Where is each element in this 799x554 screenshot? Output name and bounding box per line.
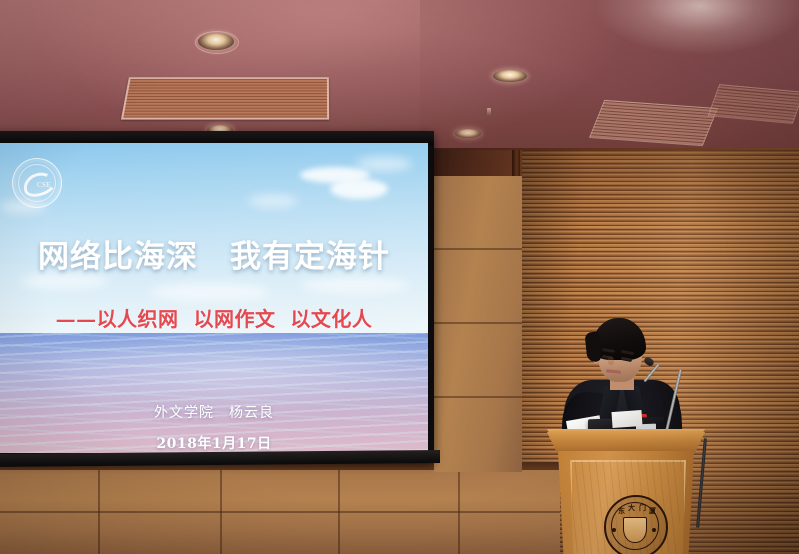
presenter-sideburn — [584, 331, 601, 362]
institution-logo-icon: CSE — [12, 158, 62, 208]
podium-top-surface — [547, 432, 705, 452]
cloud-icon — [300, 277, 410, 293]
crest-shield — [623, 517, 647, 543]
side-acoustic-panel — [434, 176, 522, 472]
cloud-icon — [330, 179, 388, 199]
crest-glyph: 东 — [618, 506, 625, 516]
panel-seam — [0, 511, 560, 513]
cloud-icon — [356, 157, 412, 171]
downlight-icon — [493, 70, 527, 82]
projection-screen[interactable]: CSE 网络比海深 我有定海针 ——以人织网 以网作文 以文化人 外文学院 杨云… — [0, 143, 428, 453]
slide-title: 网络比海深 我有定海针 — [0, 231, 428, 276]
cloud-icon — [150, 283, 270, 301]
paper-documents — [611, 410, 642, 428]
downlight-trim-icon — [195, 31, 239, 54]
panel-seam — [434, 322, 522, 324]
cloud-icon — [248, 195, 298, 207]
lecture-hall-scene: CSE 网络比海深 我有定海针 ——以人织网 以网作文 以文化人 外文学院 杨云… — [0, 0, 799, 554]
sprinkler-icon — [487, 108, 491, 116]
slide-subtitle: ——以人织网 以网作文 以文化人 — [0, 303, 428, 332]
air-vent-icon — [121, 77, 329, 119]
crest-glyph: 厦 — [649, 506, 656, 516]
slide-presenter-line: 外文学院 杨云良 — [0, 402, 428, 422]
crest-glyph: 大 — [628, 503, 635, 513]
crest-glyph: 门 — [639, 503, 646, 513]
presenter-nose — [608, 356, 614, 365]
crest-dot — [612, 528, 616, 532]
air-vent-icon — [589, 100, 718, 146]
downlight-icon — [455, 129, 481, 138]
logo-mark-text: CSE — [37, 181, 51, 189]
crest-dot — [652, 528, 656, 532]
panel-seam — [434, 396, 522, 398]
panel-seam — [434, 248, 522, 250]
